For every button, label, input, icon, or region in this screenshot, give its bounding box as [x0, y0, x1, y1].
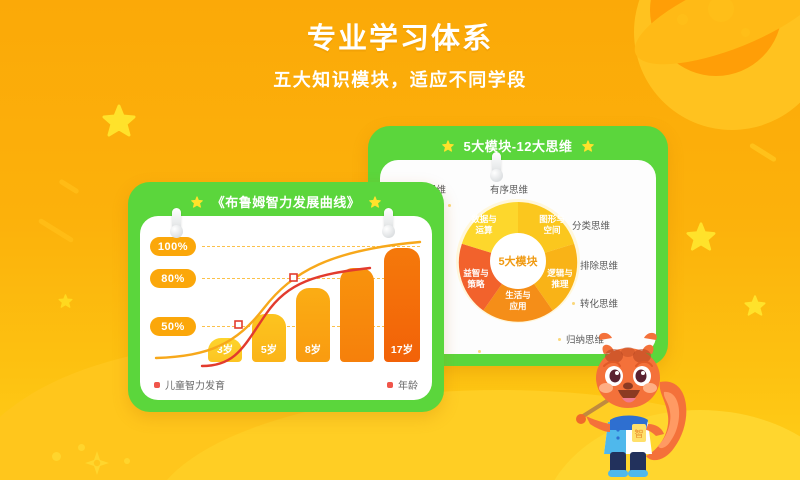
page-subtitle: 五大知识模块，适应不同学段 — [0, 66, 800, 92]
curve-marker-50 — [235, 321, 242, 328]
star-icon — [686, 222, 716, 251]
page-title: 专业学习体系 — [0, 24, 800, 56]
module-card-title: 5大模块-12大思维 — [463, 136, 572, 155]
curve-card-sheet: 100% 80% 50% 3岁 5岁 8岁 17岁 — [140, 216, 432, 400]
slice-label-tuxing-kongjian: 图形与空间 — [529, 214, 575, 235]
slice-label-shenghuo-yingyong: 生活与应用 — [495, 290, 541, 311]
bloom-bar-chart: 100% 80% 50% 3岁 5岁 8岁 17岁 — [140, 216, 432, 400]
legend-dot-icon — [387, 382, 393, 388]
age-curve — [156, 242, 420, 358]
connector-dot — [478, 350, 481, 353]
legend-item-age: 年龄 — [387, 377, 418, 392]
squirrel-mascot: 智 — [574, 330, 692, 480]
ground-dot — [124, 458, 130, 464]
module-donut-chart: 5大模块 数据与运算 图形与空间 逻辑与推理 生活与应用 益智与策略 — [455, 198, 581, 324]
slice-label-shuju-yunsuan: 数据与运算 — [461, 214, 507, 235]
header: 专业学习体系 五大知识模块，适应不同学段 — [0, 24, 800, 92]
card-pin — [384, 208, 393, 235]
star-icon — [191, 196, 203, 208]
module-card-title-row: 5大模块-12大思维 — [368, 136, 668, 155]
connector-dot — [448, 204, 451, 207]
intelligence-curve — [202, 268, 370, 366]
growth-curves — [140, 216, 432, 400]
star-icon — [102, 104, 136, 137]
outer-label-zhuan-hua: 转化思维 — [580, 296, 618, 310]
svg-text:智: 智 — [634, 428, 643, 439]
curve-card-title: 《布鲁姆智力发展曲线》 — [212, 192, 361, 211]
card-pin — [172, 208, 181, 235]
star-icon — [582, 140, 594, 152]
star-icon — [442, 140, 454, 152]
ground-dot — [698, 452, 706, 460]
legend-dot-icon — [154, 382, 160, 388]
poster-stage: 专业学习体系 五大知识模块，适应不同学段 5大模块-12大思维 对应思维 有序思… — [0, 0, 800, 480]
outer-label-you-xu: 有序思维 — [490, 182, 528, 196]
flower-icon — [84, 450, 110, 480]
card-pin — [492, 152, 501, 179]
star-icon — [369, 196, 381, 208]
star-icon — [744, 295, 766, 316]
star-icon — [58, 294, 73, 308]
ground-dot — [52, 452, 61, 461]
curve-marker-80 — [290, 274, 297, 281]
slice-label-yizhi-celue: 益智与策略 — [453, 268, 499, 289]
outer-label-pai-chu: 排除思维 — [580, 258, 618, 272]
connector-dot — [558, 338, 561, 341]
curve-card[interactable]: 《布鲁姆智力发展曲线》 100% 80% 50% 3岁 5岁 — [128, 182, 444, 412]
chart-legend: 儿童智力发育 年龄 — [154, 377, 418, 392]
slice-label-luoji-tuili: 逻辑与推理 — [537, 268, 583, 289]
legend-item-intelligence: 儿童智力发育 — [154, 377, 225, 392]
